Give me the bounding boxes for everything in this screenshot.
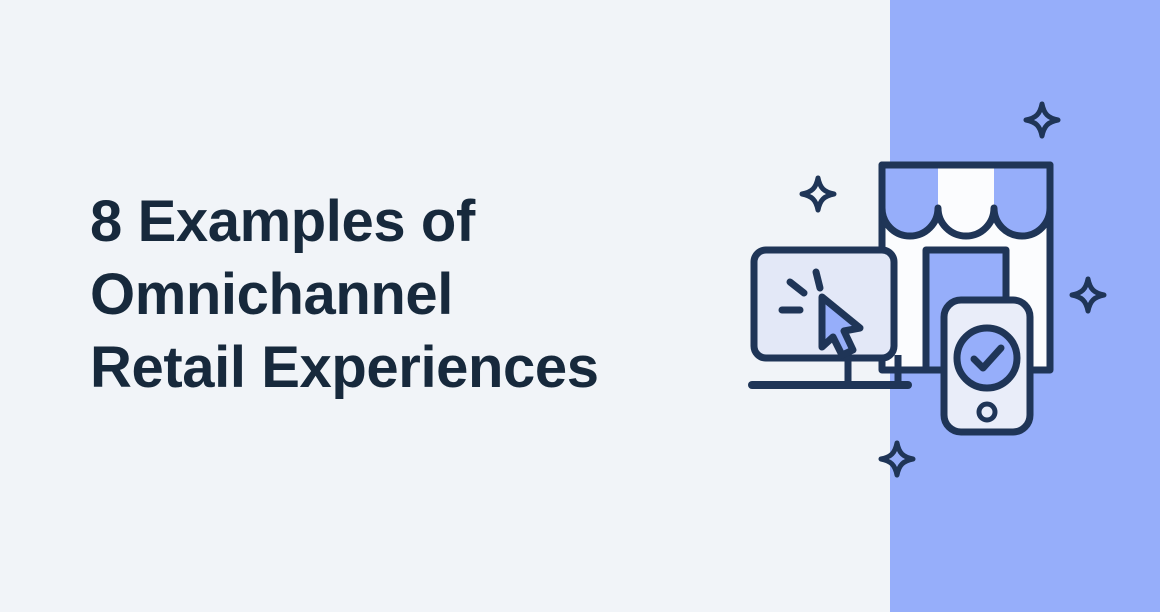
awning-icon (882, 165, 1050, 236)
headline-text: 8 Examples of Omnichannel Retail Experie… (90, 185, 710, 404)
sparkle-top-left-icon (802, 178, 834, 210)
banner-root: 8 Examples of Omnichannel Retail Experie… (0, 0, 1160, 612)
sparkle-bottom-icon (881, 443, 913, 475)
smartphone-icon (944, 300, 1030, 432)
check-badge-icon (957, 328, 1017, 388)
page-title: 8 Examples of Omnichannel Retail Experie… (90, 185, 710, 404)
sparkle-top-right-icon (1026, 104, 1058, 136)
sparkle-right-icon (1072, 279, 1104, 311)
omnichannel-retail-illustration (730, 60, 1130, 500)
